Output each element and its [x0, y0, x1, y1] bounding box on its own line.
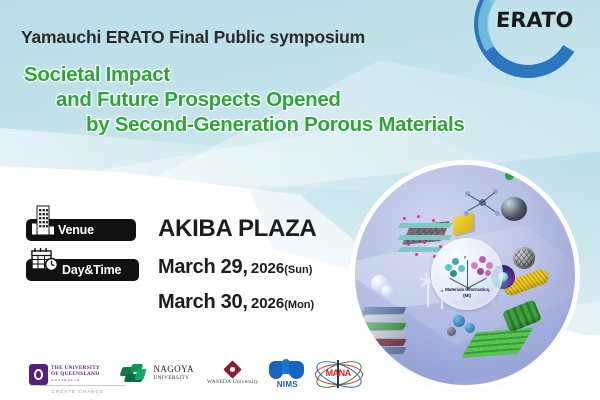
date-month-day: March 30 — [158, 291, 242, 314]
nagoya-wordmark: NAGOYA UNIVERSITY — [153, 364, 193, 384]
uq-shield-icon — [30, 365, 47, 384]
materials-informatics-sphere: y x z Materials Informatics — [431, 238, 503, 310]
logo-nagoya-university: NAGOYA UNIVERSITY — [121, 364, 202, 384]
date-month-day: March 29 — [158, 256, 242, 279]
illustration-fullerene — [513, 247, 535, 269]
mana-wordmark: MANA — [312, 368, 364, 378]
center-sublabel-text: (MI) — [463, 293, 471, 298]
illustration-catalyst-particle — [453, 315, 465, 327]
venue-value: AKIBA PLAZA — [158, 215, 316, 243]
illustration-layered-stack — [363, 307, 405, 353]
nagoya-line-1: NAGOYA — [153, 364, 193, 374]
illustration-axis-vertical — [467, 260, 468, 290]
title-line-3: by Second-Generation Porous Materials — [86, 112, 584, 137]
illustration-cluster-pink — [471, 256, 495, 278]
illustration-cluster-teal — [445, 258, 467, 278]
logo-university-of-queensland: THE UNIVERSITY OF QUEENSLAND AUSTRALIA C… — [30, 365, 115, 384]
nagoya-mark-icon — [121, 364, 148, 384]
logo-nims: NIMS — [263, 359, 313, 389]
nagoya-line-2: UNIVERSITY — [153, 374, 193, 384]
materials-informatics-label: Materials Informatics (MI) — [431, 287, 503, 299]
date-comma: , — [242, 291, 248, 314]
erato-logo-wordmark: ERATO — [495, 8, 574, 32]
date-weekday: (Sun) — [284, 264, 312, 276]
uq-wordmark: THE UNIVERSITY OF QUEENSLAND AUSTRALIA — [51, 365, 100, 384]
illustration-catalyst-particle — [447, 327, 456, 336]
date-weekday: (Mon) — [284, 299, 314, 311]
calendar-clock-icon — [30, 247, 60, 275]
date-comma: , — [242, 256, 248, 279]
nims-mark-icon — [269, 359, 305, 379]
symposium-poster: ERATO Yamauchi ERATO Final Public sympos… — [0, 0, 600, 400]
date-year: 2026 — [251, 295, 284, 312]
nims-wordmark: NIMS — [277, 380, 298, 389]
logo-mana: MANA — [312, 359, 360, 389]
waseda-diamond-icon — [223, 360, 241, 378]
daytime-badge-label: Day&Time — [62, 263, 121, 277]
title-line-1: Societal Impact — [24, 62, 584, 87]
logo-waseda-university: WASEDA University — [203, 363, 263, 385]
illustration-catalyst-particle — [465, 323, 475, 333]
page-title: Societal Impact and Future Prospects Ope… — [24, 62, 584, 137]
date-year: 2026 — [251, 260, 284, 277]
center-label-text: Materials Informatics — [445, 287, 489, 292]
illustration-hydrogen-bubble — [381, 285, 393, 297]
illustration-wind-turbine — [427, 283, 429, 307]
partner-logos: THE UNIVERSITY OF QUEENSLAND AUSTRALIA C… — [30, 354, 360, 394]
uq-line-3: AUSTRALIA — [51, 377, 100, 383]
illustration-green-dot — [505, 171, 514, 180]
eyebrow-text: Yamauchi ERATO Final Public symposium — [21, 27, 365, 48]
illustration-dark-sphere — [501, 197, 527, 221]
illustration-molecule — [463, 187, 503, 221]
waseda-wordmark: WASEDA University — [207, 379, 258, 385]
date-row: March 30 , 2026 (Mon) — [158, 291, 314, 314]
uq-tagline: CREATE CHANGE — [30, 385, 126, 394]
materials-science-circle-illustration: P(D|θ)=ΠN(xi|μ,σ2) f(X)=N(μ,σ2) Ld=√(Σ(θ… — [355, 165, 575, 385]
title-line-2: and Future Prospects Opened — [56, 87, 584, 112]
venue-badge-label: Venue — [58, 223, 94, 237]
uq-line-1: THE UNIVERSITY — [51, 365, 100, 371]
building-icon — [30, 205, 56, 237]
date-row: March 29 , 2026 (Sun) — [158, 256, 312, 279]
